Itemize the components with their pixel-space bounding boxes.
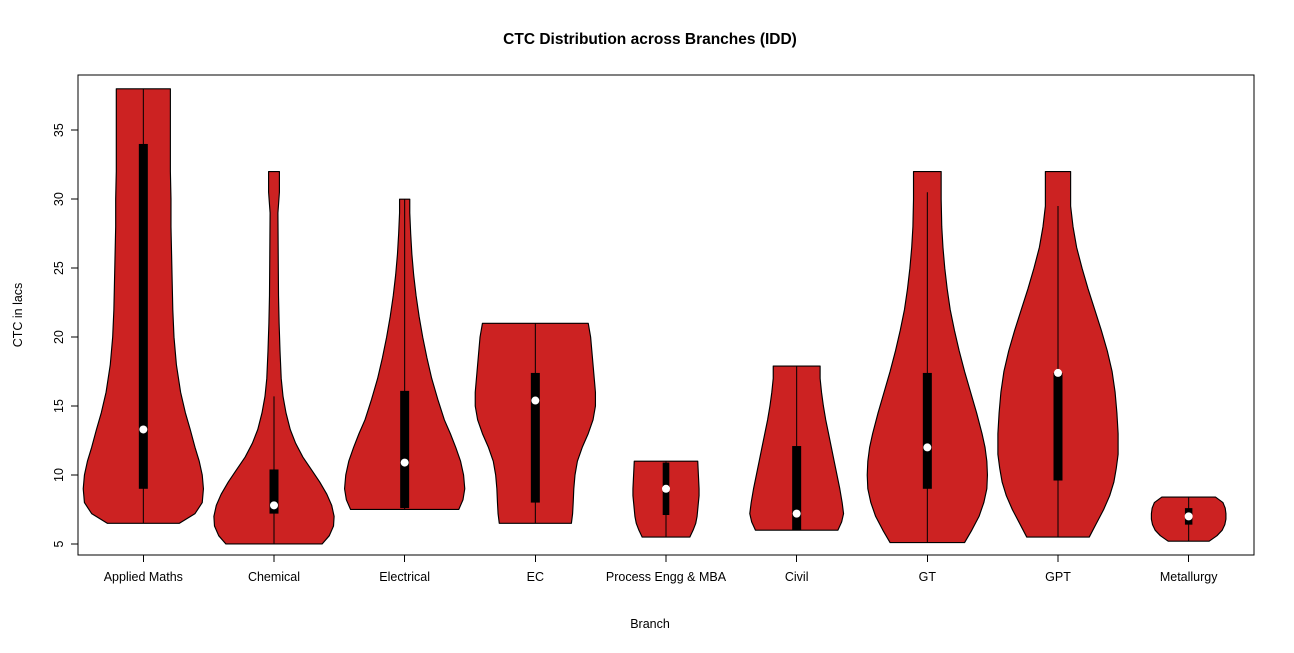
median-dot (923, 443, 931, 451)
violin-metallurgy (1151, 497, 1226, 541)
violin-gt (867, 172, 987, 543)
chart-title: CTC Distribution across Branches (IDD) (503, 31, 797, 48)
x-tick-label: EC (527, 570, 544, 584)
y-axis-title: CTC in lacs (11, 283, 25, 348)
iqr-box (531, 373, 540, 503)
violin-process-engg-mba (633, 461, 699, 537)
y-tick-label: 5 (52, 540, 66, 547)
violin-civil (750, 366, 844, 530)
x-tick-label: Metallurgy (1160, 570, 1218, 584)
x-tick-label: GT (919, 570, 937, 584)
y-tick-label: 15 (52, 399, 66, 413)
iqr-box (139, 144, 148, 489)
iqr-box (400, 391, 409, 508)
y-axis: 5101520253035 (52, 123, 78, 547)
x-tick-label: Civil (785, 570, 809, 584)
violin-ec (475, 323, 595, 523)
violin-electrical (345, 199, 465, 509)
violin-applied-maths (83, 89, 203, 523)
iqr-box (1054, 373, 1063, 481)
median-dot (139, 425, 147, 433)
violin-chart-root: CTC Distribution across Branches (IDD) 5… (0, 0, 1294, 653)
iqr-box (923, 373, 932, 489)
x-tick-label: Electrical (379, 570, 430, 584)
y-tick-label: 35 (52, 123, 66, 137)
median-dot (531, 397, 539, 405)
median-dot (270, 501, 278, 509)
violin-series-group (83, 89, 1226, 544)
median-dot (662, 485, 670, 493)
y-tick-label: 25 (52, 261, 66, 275)
violin-chemical (214, 172, 334, 544)
x-tick-label: Process Engg & MBA (606, 570, 727, 584)
x-tick-label: Chemical (248, 570, 300, 584)
chart-canvas: CTC Distribution across Branches (IDD) 5… (0, 0, 1294, 653)
y-tick-label: 30 (52, 192, 66, 206)
y-tick-label: 20 (52, 330, 66, 344)
x-tick-label: GPT (1045, 570, 1071, 584)
violin-gpt (998, 172, 1118, 538)
median-dot (1185, 512, 1193, 520)
x-axis: Applied MathsChemicalElectricalECProcess… (104, 555, 1219, 584)
median-dot (1054, 369, 1062, 377)
y-tick-label: 10 (52, 468, 66, 482)
x-tick-label: Applied Maths (104, 570, 183, 584)
x-axis-title: Branch (630, 617, 670, 631)
median-dot (401, 459, 409, 467)
median-dot (793, 510, 801, 518)
